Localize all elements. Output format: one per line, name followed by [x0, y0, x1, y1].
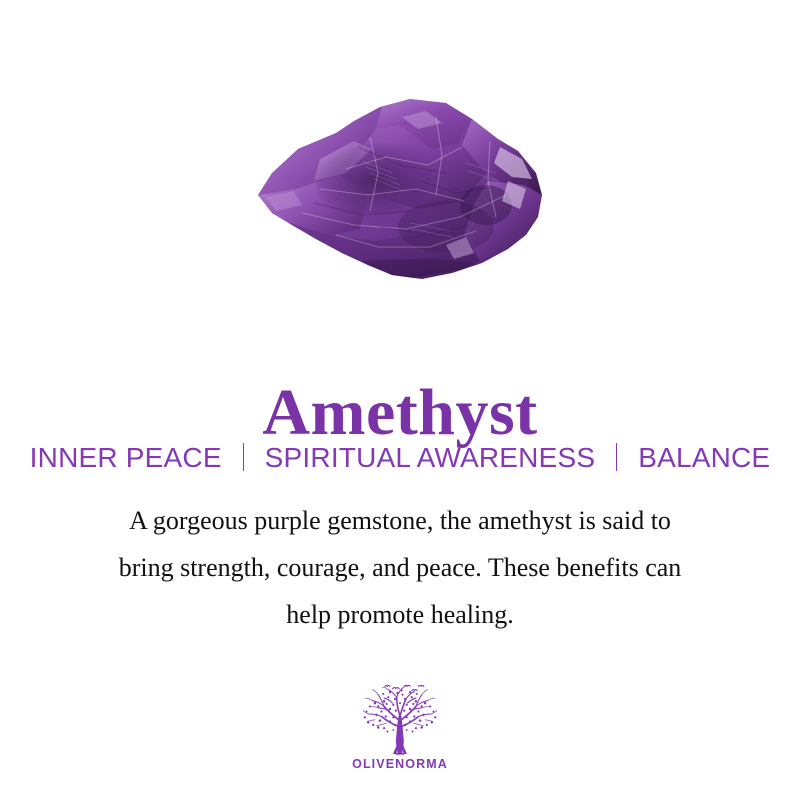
keyword-separator: [243, 443, 244, 471]
page-title: Amethyst: [0, 380, 800, 446]
keyword-separator: [616, 443, 617, 471]
product-description: A gorgeous purple gemstone, the amethyst…: [50, 497, 750, 638]
keyword-inner-peace: INNER PEACE: [30, 442, 222, 473]
keyword-balance: BALANCE: [638, 442, 770, 473]
description-line: A gorgeous purple gemstone, the amethyst…: [50, 497, 750, 544]
product-card: Amethyst INNER PEACE SPIRITUAL AWARENESS…: [0, 0, 800, 800]
amethyst-gemstone-image: [0, 72, 800, 307]
brand-name: OLIVENORMA: [352, 757, 448, 771]
description-line: bring strength, courage, and peace. Thes…: [50, 544, 750, 591]
keyword-spiritual-awareness: SPIRITUAL AWARENESS: [265, 442, 596, 473]
amethyst-crystal-icon: [250, 77, 550, 302]
product-keywords: INNER PEACE SPIRITUAL AWARENESS BALANCE: [0, 442, 800, 474]
description-line: help promote healing.: [50, 591, 750, 638]
brand-logo: OLIVENORMA: [0, 683, 800, 771]
tree-of-life-icon: [357, 683, 443, 755]
